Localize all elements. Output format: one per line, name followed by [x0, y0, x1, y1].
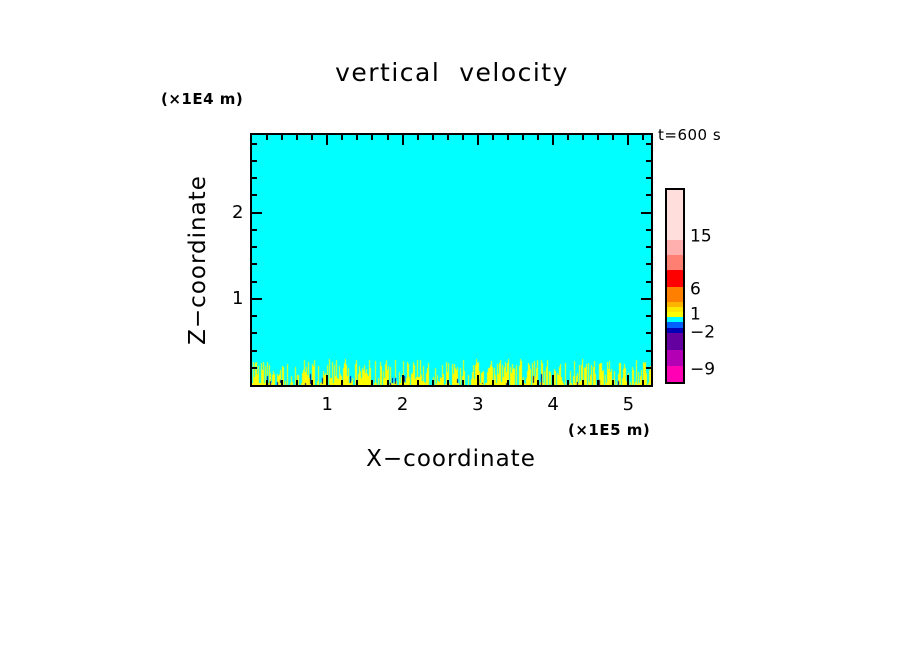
y-tick [252, 315, 257, 317]
y-tick [252, 263, 257, 265]
x-tick [477, 375, 479, 385]
x-tick [552, 375, 554, 385]
x-tick [642, 135, 644, 140]
x-tick [507, 135, 509, 140]
x-tick [402, 135, 404, 145]
y-tick [646, 263, 651, 265]
colorbar-band [667, 350, 683, 366]
x-tick [597, 380, 599, 385]
y-tick [646, 194, 651, 196]
x-tick-label: 2 [397, 396, 408, 414]
y-axis-unit-label: (×1E4 m) [161, 90, 243, 108]
y-tick [646, 229, 651, 231]
colorbar-band [667, 255, 683, 269]
x-tick [597, 135, 599, 140]
y-tick [252, 298, 262, 300]
colorbar-band [667, 366, 683, 382]
x-tick [326, 135, 328, 145]
x-tick [552, 135, 554, 145]
colorbar-band [667, 270, 683, 288]
y-tick [252, 177, 257, 179]
x-tick [281, 380, 283, 385]
x-tick [582, 380, 584, 385]
x-tick [522, 380, 524, 385]
x-tick [371, 135, 373, 140]
colorbar-tick-label: −2 [690, 325, 715, 342]
x-tick [627, 135, 629, 145]
colorbar-tick-label: 15 [690, 229, 712, 246]
x-tick [311, 380, 313, 385]
y-tick [646, 281, 651, 283]
x-axis-title: X−coordinate [366, 446, 536, 472]
y-tick [252, 160, 257, 162]
x-tick [642, 380, 644, 385]
time-annotation: t=600 s [658, 126, 721, 144]
x-tick [387, 380, 389, 385]
y-tick [252, 332, 257, 334]
y-axis-title: Z−coordinate [185, 175, 211, 345]
y-tick-label: 1 [232, 290, 243, 308]
x-tick [326, 375, 328, 385]
y-tick [641, 212, 651, 214]
y-tick [252, 229, 257, 231]
x-tick [356, 380, 358, 385]
y-tick [252, 143, 257, 145]
colorbar-tick-label: −9 [690, 362, 715, 379]
x-tick [447, 380, 449, 385]
x-tick [582, 135, 584, 140]
x-tick [387, 135, 389, 140]
x-tick [432, 135, 434, 140]
colorbar-band [667, 333, 683, 350]
x-tick [537, 135, 539, 140]
x-tick [612, 135, 614, 140]
y-tick [641, 298, 651, 300]
plot-area [250, 133, 653, 387]
x-tick [477, 135, 479, 145]
y-tick [252, 367, 257, 369]
x-tick [296, 135, 298, 140]
x-tick [417, 135, 419, 140]
y-tick [646, 315, 651, 317]
y-tick [252, 246, 257, 248]
x-tick [402, 375, 404, 385]
x-tick [492, 380, 494, 385]
x-tick-label: 3 [472, 396, 483, 414]
colorbar-band [667, 287, 683, 302]
plot-figure: vertical velocity (×1E4 m) t=600 s 12345… [0, 0, 904, 654]
y-tick [646, 160, 651, 162]
y-tick [252, 212, 262, 214]
y-tick [646, 143, 651, 145]
x-tick [507, 380, 509, 385]
colorbar-tick-label: 1 [690, 307, 701, 324]
x-tick [356, 135, 358, 140]
x-tick [492, 135, 494, 140]
y-tick [252, 281, 257, 283]
page-title: vertical velocity [0, 58, 904, 87]
x-tick [462, 380, 464, 385]
y-tick [252, 194, 257, 196]
colorbar [665, 188, 685, 384]
x-tick [341, 380, 343, 385]
x-tick [447, 135, 449, 140]
x-tick [371, 380, 373, 385]
x-tick [266, 135, 268, 140]
colorbar-band [667, 190, 683, 240]
x-tick [627, 375, 629, 385]
y-tick [252, 350, 257, 352]
x-tick [432, 380, 434, 385]
colorbar-tick-label: 6 [690, 282, 701, 299]
colorbar-band [667, 240, 683, 255]
y-tick [646, 246, 651, 248]
x-tick [567, 380, 569, 385]
x-tick [522, 135, 524, 140]
field-canvas [252, 135, 651, 385]
y-tick [646, 350, 651, 352]
x-tick-label: 5 [623, 396, 634, 414]
x-tick [462, 135, 464, 140]
x-tick [417, 380, 419, 385]
y-tick [646, 332, 651, 334]
x-tick-label: 4 [547, 396, 558, 414]
x-tick [612, 380, 614, 385]
x-tick [266, 380, 268, 385]
y-tick-label: 2 [232, 204, 243, 222]
x-tick [567, 135, 569, 140]
x-tick [341, 135, 343, 140]
x-axis-unit-label: (×1E5 m) [568, 421, 650, 439]
x-tick [281, 135, 283, 140]
x-tick-label: 1 [322, 396, 333, 414]
y-tick [646, 177, 651, 179]
y-tick [646, 367, 651, 369]
x-tick [537, 380, 539, 385]
x-tick [311, 135, 313, 140]
x-tick [296, 380, 298, 385]
